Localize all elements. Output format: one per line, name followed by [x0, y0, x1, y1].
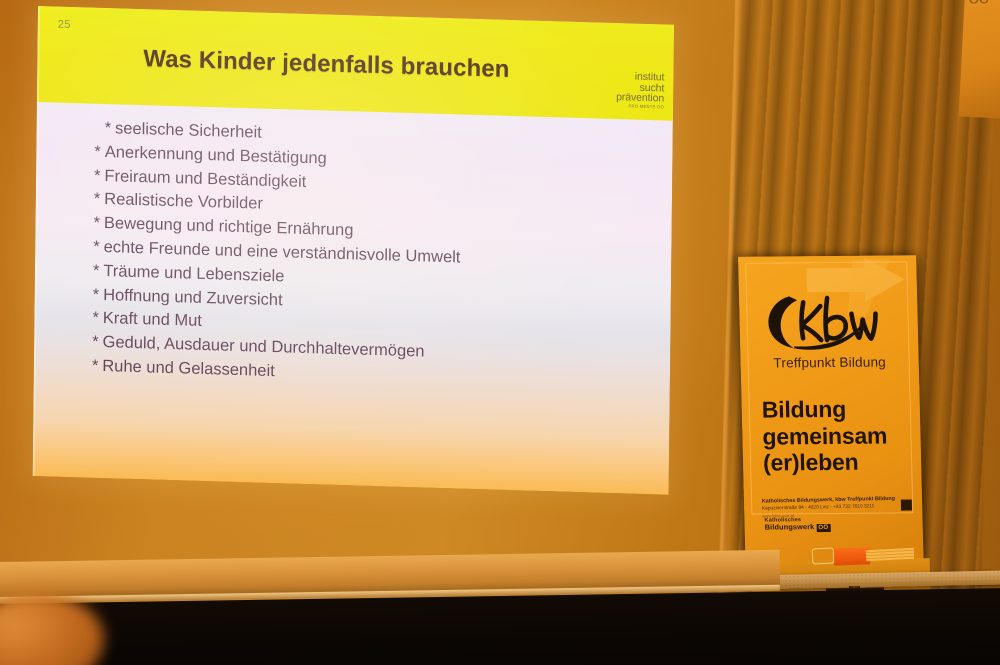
bullet-marker: * [93, 214, 100, 232]
banner-footer-text: Katholisches Bildungswerk, kbw Treffpunk… [762, 495, 915, 524]
slide-number: 25 [58, 19, 71, 31]
bullet-text: Hoffnung und Zuversicht [103, 286, 283, 309]
corner-poster-glyph: OÖ [969, 0, 1000, 6]
slide-bullet-list: *seelische Sicherheit *Anerkennung und B… [92, 120, 659, 398]
kbw-tagline: Treffpunkt Bildung [740, 354, 918, 371]
bullet-text: Anerkennung und Bestätigung [105, 143, 327, 168]
rollup-banner: Treffpunkt Bildung Bildung gemeinsam (er… [738, 255, 924, 578]
banner-org-region: OÖ [816, 524, 830, 531]
bullet-text: Geduld, Ausdauer und Durchhaltevermögen [102, 333, 424, 360]
lecture-hall-photo: OÖ 25 Was Kinder jedenfalls brauchen ins… [0, 0, 1000, 665]
bullet-marker: * [93, 238, 100, 256]
bullet-text: Bewegung und richtige Ernährung [104, 214, 354, 239]
banner-claim-line-2: gemeinsam [762, 422, 913, 450]
logo-line-3: prävention [616, 92, 664, 104]
corner-poster: OÖ [959, 0, 1000, 119]
bullet-marker: * [94, 166, 101, 184]
bullet-text: Träume und Lebensziele [103, 262, 284, 285]
bullet-text: Realistische Vorbilder [104, 190, 263, 213]
bullet-text: Ruhe und Gelassenheit [102, 357, 275, 380]
kbw-logo: Treffpunkt Bildung [739, 287, 919, 375]
banner-claim: Bildung gemeinsam (er)leben [761, 395, 913, 476]
bullet-text: Kraft und Mut [103, 309, 202, 330]
projection-screen: 25 Was Kinder jedenfalls brauchen instit… [38, 6, 674, 476]
bullet-marker: * [92, 309, 99, 327]
bullet-marker: * [92, 333, 99, 351]
bullet-marker: * [94, 143, 101, 161]
banner-claim-line-1: Bildung [761, 395, 912, 423]
slide-title: Was Kinder jedenfalls brauchen [37, 42, 673, 89]
kbw-swoosh-icon [753, 287, 905, 354]
bullet-marker: * [93, 261, 100, 279]
banner-claim-line-3: (er)leben [763, 449, 914, 477]
bullet-marker: * [93, 285, 100, 303]
institut-sucht-praevention-logo: institut sucht prävention PRO MENTE OÖ [616, 71, 664, 110]
glass-object [812, 547, 835, 564]
bullet-text: Freiraum und Beständigkeit [104, 167, 306, 191]
slide-header-band: 25 Was Kinder jedenfalls brauchen instit… [37, 6, 674, 121]
banner-org-line-2: BildungswerkOÖ [765, 523, 831, 532]
bullet-marker: * [105, 119, 112, 137]
banner-footer-badge [901, 499, 912, 510]
presentation-slide: 25 Was Kinder jedenfalls brauchen instit… [33, 6, 674, 495]
logo-tagline: PRO MENTE OÖ [616, 104, 664, 110]
bullet-marker: * [92, 357, 99, 375]
bullet-text: echte Freunde und eine verständnisvolle … [104, 238, 461, 267]
bullet-text: seelische Sicherheit [115, 119, 262, 141]
bullet-marker: * [94, 190, 101, 208]
